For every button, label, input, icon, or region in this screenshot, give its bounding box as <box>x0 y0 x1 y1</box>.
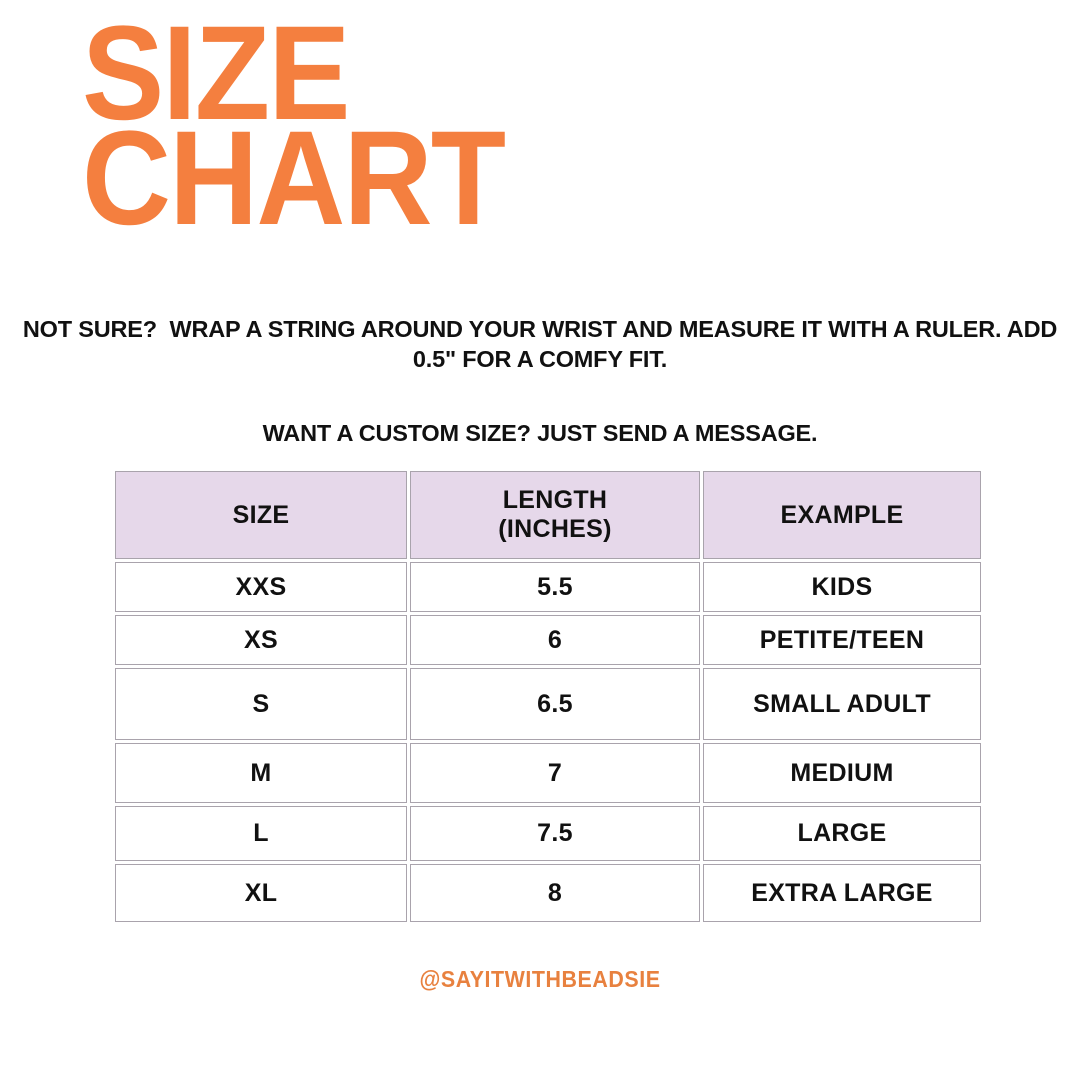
cell-size: S <box>115 668 407 740</box>
table-body: XXS 5.5 KIDS XS 6 PETITE/TEEN S 6.5 SMAL… <box>115 562 981 922</box>
table-row: L 7.5 LARGE <box>115 806 981 861</box>
table-header: SIZE LENGTH (INCHES) EXAMPLE <box>115 471 981 559</box>
description-custom-size: WANT A CUSTOM SIZE? JUST SEND A MESSAGE. <box>8 418 1072 448</box>
column-header-length-main: LENGTH <box>503 486 608 514</box>
size-table-wrapper: SIZE LENGTH (INCHES) EXAMPLE XXS 5.5 KID… <box>112 468 972 925</box>
cell-size: M <box>115 743 407 803</box>
size-table: SIZE LENGTH (INCHES) EXAMPLE XXS 5.5 KID… <box>112 468 984 925</box>
table-row: XS 6 PETITE/TEEN <box>115 615 981 665</box>
cell-size: XXS <box>115 562 407 612</box>
column-header-size: SIZE <box>115 471 407 559</box>
cell-length: 8 <box>410 864 700 922</box>
table-header-row: SIZE LENGTH (INCHES) EXAMPLE <box>115 471 981 559</box>
cell-length: 6.5 <box>410 668 700 740</box>
table-row: XL 8 EXTRA LARGE <box>115 864 981 922</box>
cell-example: EXTRA LARGE <box>703 864 981 922</box>
instagram-handle: @SAYITWITHBEADSIE <box>38 966 1042 993</box>
table-row: S 6.5 SMALL ADULT <box>115 668 981 740</box>
cell-length: 6 <box>410 615 700 665</box>
cell-example: PETITE/TEEN <box>703 615 981 665</box>
table-row: XXS 5.5 KIDS <box>115 562 981 612</box>
column-header-length: LENGTH (INCHES) <box>410 471 700 559</box>
page-title: SIZE CHART <box>82 18 541 235</box>
cell-example: SMALL ADULT <box>703 668 981 740</box>
description-block: NOT SURE? WRAP A STRING AROUND YOUR WRIS… <box>8 314 1072 448</box>
cell-length: 5.5 <box>410 562 700 612</box>
cell-example: MEDIUM <box>703 743 981 803</box>
title-line-chart: CHART <box>82 123 504 236</box>
size-chart-page: SIZE CHART NOT SURE? WRAP A STRING AROUN… <box>0 0 1080 1080</box>
cell-length: 7 <box>410 743 700 803</box>
table-row: M 7 MEDIUM <box>115 743 981 803</box>
cell-example: LARGE <box>703 806 981 861</box>
cell-example: KIDS <box>703 562 981 612</box>
column-header-length-units: (INCHES) <box>411 515 699 544</box>
description-measure-instructions: NOT SURE? WRAP A STRING AROUND YOUR WRIS… <box>8 314 1072 374</box>
cell-size: XL <box>115 864 407 922</box>
column-header-example: EXAMPLE <box>703 471 981 559</box>
cell-size: XS <box>115 615 407 665</box>
cell-length: 7.5 <box>410 806 700 861</box>
cell-size: L <box>115 806 407 861</box>
